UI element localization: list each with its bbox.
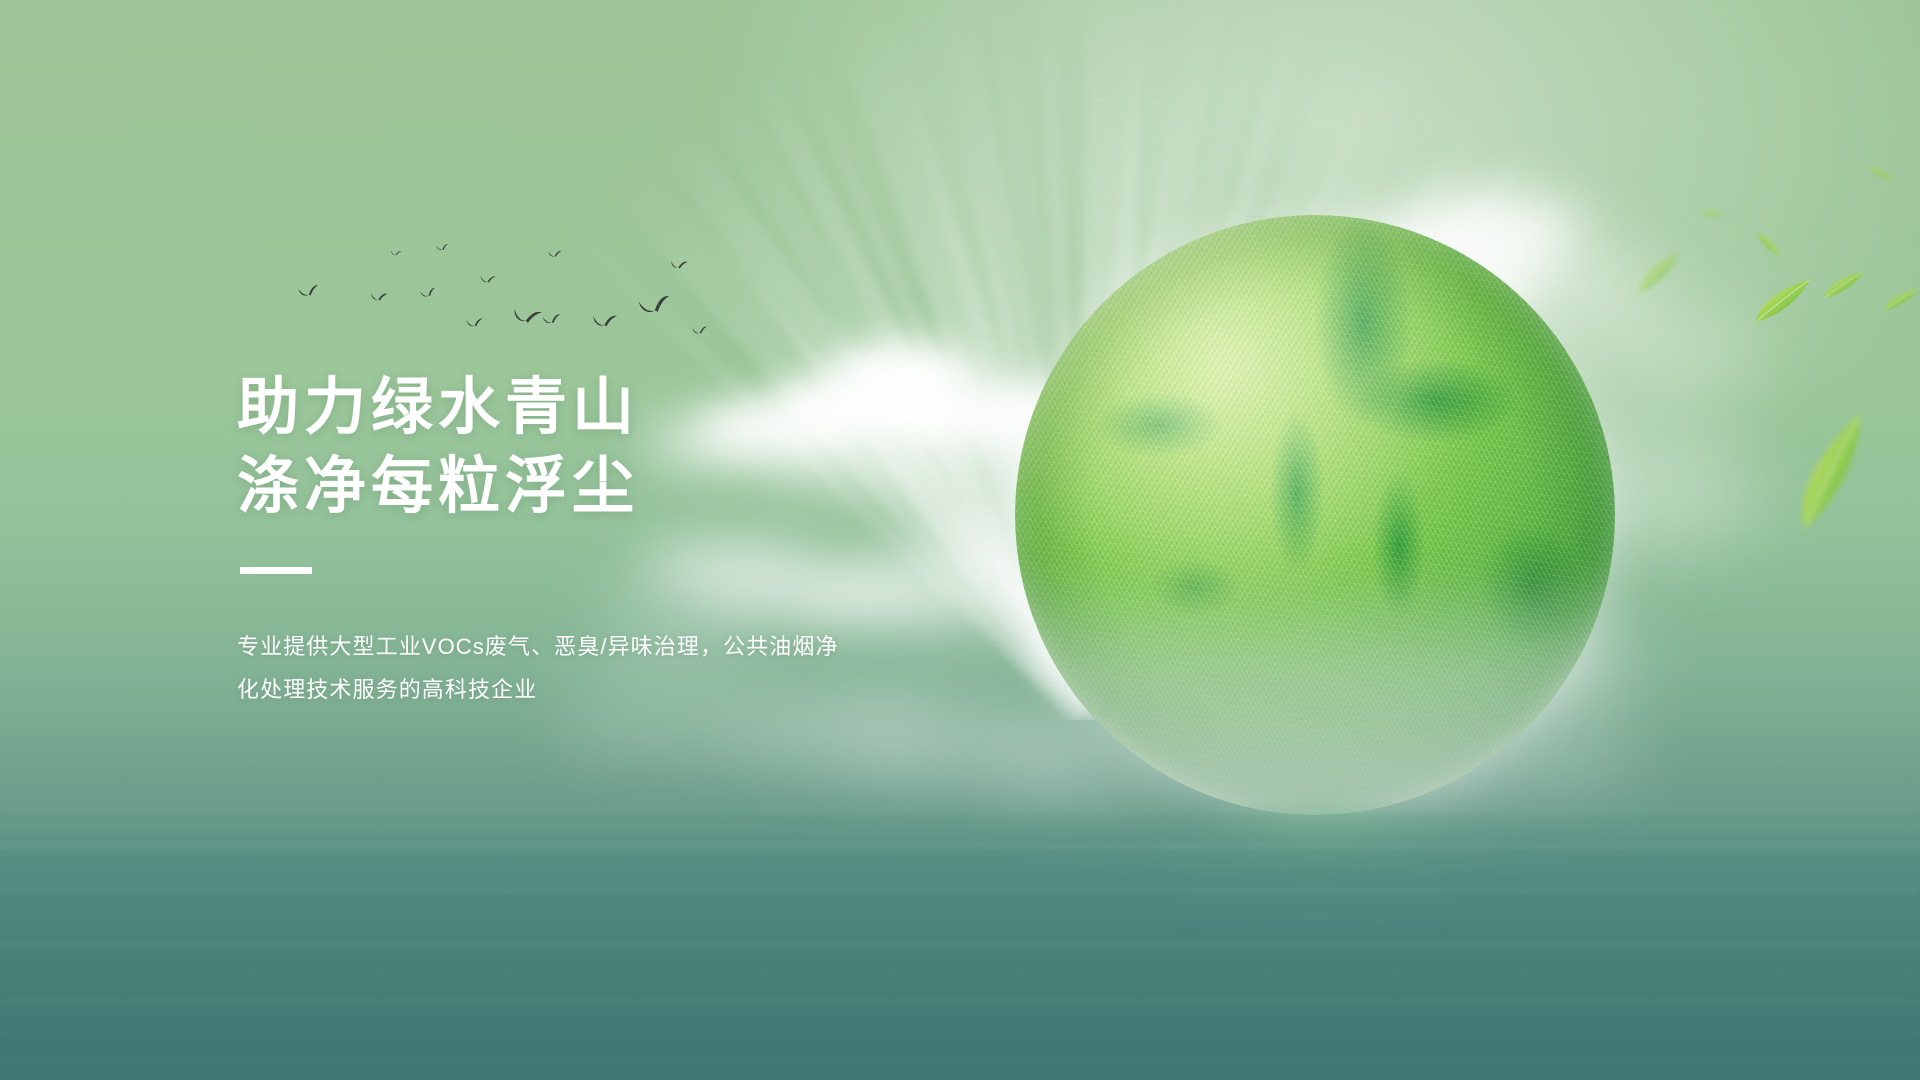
earth-globe-icon: [1015, 215, 1615, 815]
hero-subtitle-line1: 专业提供大型工业VOCs废气、恶臭/异味治理，公共油烟净: [237, 626, 927, 669]
bird-icon: [466, 317, 485, 329]
bird-icon: [548, 250, 562, 259]
water-ripple: [0, 844, 1920, 848]
flying-birds-icon: [280, 230, 720, 350]
water-ripple: [0, 808, 1920, 811]
page-title-line1: 助力绿水青山: [237, 368, 997, 447]
bird-icon: [390, 249, 403, 258]
water-ripple: [0, 826, 1920, 828]
bird-icon: [592, 314, 619, 331]
cloud-icon: [1560, 300, 1760, 400]
bird-icon: [669, 259, 688, 272]
water-ripple: [0, 866, 1920, 868]
bird-icon: [480, 274, 497, 285]
water-reflection: [0, 800, 1920, 1080]
water-ripple: [0, 1000, 1920, 1005]
bird-icon: [297, 284, 321, 301]
water-ripple: [0, 942, 1920, 948]
water-ripple: [0, 888, 1920, 893]
hero-subtitle-line2: 化处理技术服务的高科技企业: [237, 669, 927, 712]
page-title-line2: 涤净每粒浮尘: [237, 447, 997, 526]
hero-banner: 助力绿水青山 涤净每粒浮尘 专业提供大型工业VOCs废气、恶臭/异味治理，公共油…: [0, 0, 1920, 1080]
globe-rim-light: [1015, 215, 1615, 815]
bird-icon: [369, 291, 388, 304]
bird-icon: [692, 325, 709, 336]
hero-copy: 助力绿水青山 涤净每粒浮尘 专业提供大型工业VOCs废气、恶臭/异味治理，公共油…: [237, 368, 997, 712]
hero-subtitle: 专业提供大型工业VOCs废气、恶臭/异味治理，公共油烟净 化处理技术服务的高科技…: [237, 626, 927, 712]
water-ripple: [0, 1032, 1920, 1035]
bird-icon: [419, 286, 438, 300]
bird-icon: [436, 243, 450, 252]
bird-icon: [511, 306, 544, 330]
water-ripple: [0, 916, 1920, 919]
water-ripple: [0, 1058, 1920, 1062]
title-divider: [240, 567, 312, 574]
water-ripple: [0, 972, 1920, 975]
bird-icon: [637, 294, 674, 320]
bird-icon: [541, 313, 562, 327]
